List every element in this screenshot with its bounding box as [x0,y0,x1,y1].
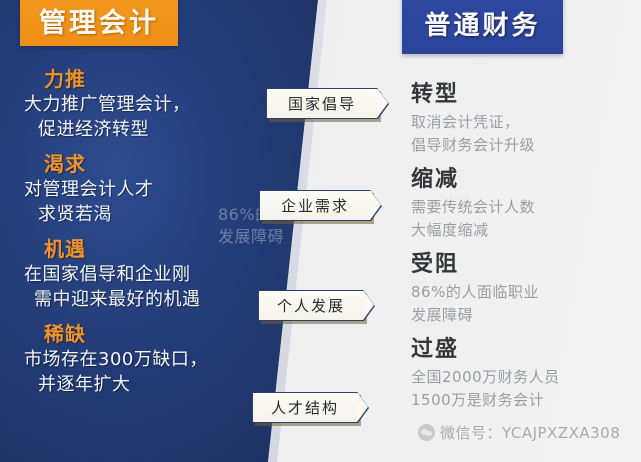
left-block-line: 并逐年扩大 [38,372,244,397]
right-block-2: 受阻 86%的人面临职业 发展障碍 [411,248,636,327]
right-block-title: 缩减 [411,163,636,196]
left-block-line: 求贤若渴 [38,202,244,227]
right-block-line: 需要传统会计人数 [411,196,636,219]
left-block-1: 渴求 对管理会计人才 求贤若渴 [24,151,244,227]
right-block-1: 缩减 需要传统会计人数 大幅度缩减 [411,163,636,242]
left-panel-header: 管理会计 [20,0,178,46]
left-panel-content: 力推 大力推广管理会计， 促进经济转型 渴求 对管理会计人才 求贤若渴 机遇 在… [24,66,244,406]
right-block-line: 86%的人面临职业 [411,281,636,304]
center-tag-guojia-changdao[interactable]: 国家倡导 [266,88,378,119]
right-panel-header: 普通财务 [402,0,563,54]
right-block-3: 过盛 全国2000万财务人员 1500万是财务会计 [411,333,636,412]
left-block-line: 市场存在300万缺口， [24,347,244,372]
center-tag-qiye-xuqiu[interactable]: 企业需求 [259,190,371,221]
left-block-line: 对管理会计人才 [24,177,244,202]
left-block-3: 稀缺 市场存在300万缺口， 并逐年扩大 [24,321,244,397]
left-block-line: 大力推广管理会计， [24,92,244,117]
left-block-0: 力推 大力推广管理会计， 促进经济转型 [24,66,244,142]
right-block-line: 大幅度缩减 [411,219,636,242]
left-block-title: 机遇 [44,236,244,262]
left-block-line: 促进经济转型 [38,117,244,142]
right-block-line: 发展障碍 [411,304,636,327]
left-block-line: 需中迎来最好的机遇 [34,287,244,312]
right-block-title: 受阻 [411,248,636,281]
left-block-title: 渴求 [44,151,244,177]
right-block-title: 转型 [411,78,636,111]
right-block-line: 倡导财务会计升级 [411,134,636,157]
right-block-line: 1500万是财务会计 [411,389,636,412]
center-tag-geren-fazhan[interactable]: 个人发展 [258,290,364,321]
right-block-line: 取消会计凭证， [411,111,636,134]
right-block-0: 转型 取消会计凭证， 倡导财务会计升级 [411,78,636,157]
right-panel-content: 转型 取消会计凭证， 倡导财务会计升级 缩减 需要传统会计人数 大幅度缩减 受阻… [411,78,636,418]
left-block-line: 在国家倡导和企业刚 [24,262,244,287]
left-block-title: 稀缺 [44,321,244,347]
left-block-title: 力推 [44,66,244,92]
right-block-title: 过盛 [411,333,636,366]
right-block-line: 全国2000万财务人员 [411,366,636,389]
slide-canvas: 管理会计 普通财务 力推 大力推广管理会计， 促进经济转型 渴求 对管理会计人才… [0,0,641,462]
left-block-2: 机遇 在国家倡导和企业刚 需中迎来最好的机遇 [24,236,244,312]
center-tag-rencai-jiegou[interactable]: 人才结构 [252,392,358,423]
